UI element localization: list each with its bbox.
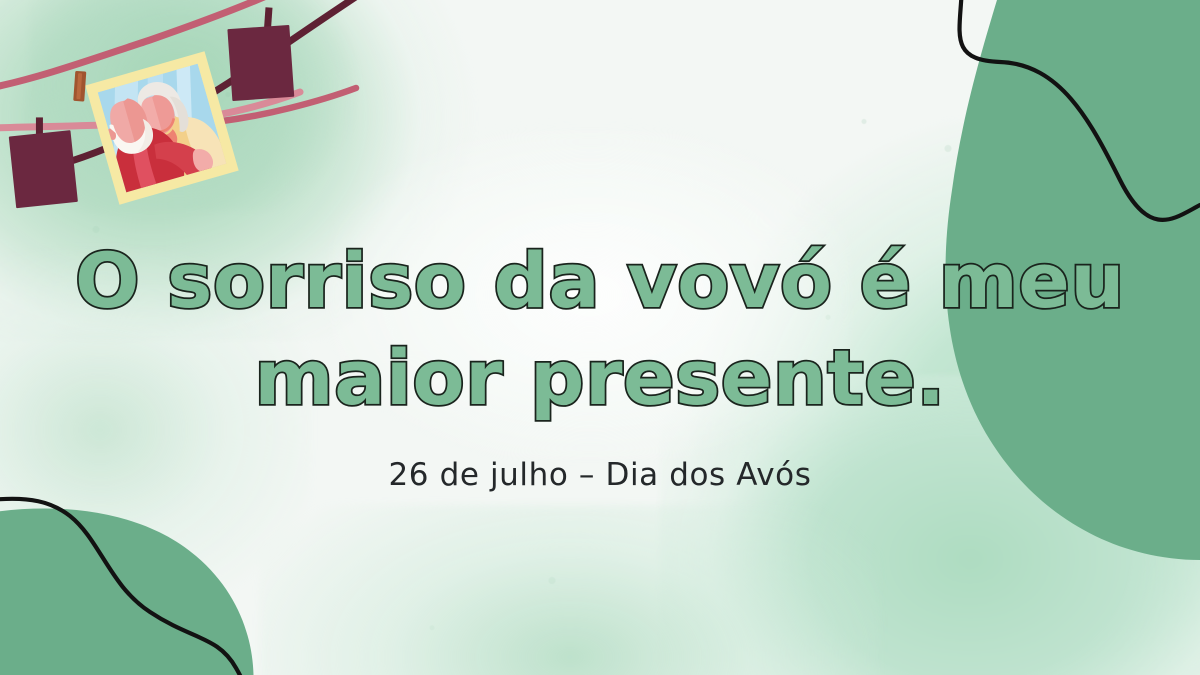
text-block: O sorriso da vovó é meu maior presente. … (0, 232, 1200, 493)
hanging-card-upper (226, 6, 294, 101)
hanging-card-lower-body (9, 130, 78, 208)
page-title: O sorriso da vovó é meu maior presente. (0, 232, 1200, 427)
clothesline-scene (0, 0, 420, 250)
hanging-card-upper-body (227, 25, 294, 101)
slide-canvas: O sorriso da vovó é meu maior presente. … (0, 0, 1200, 675)
slide-subtitle: 26 de julho – Dia dos Avós (0, 457, 1200, 493)
